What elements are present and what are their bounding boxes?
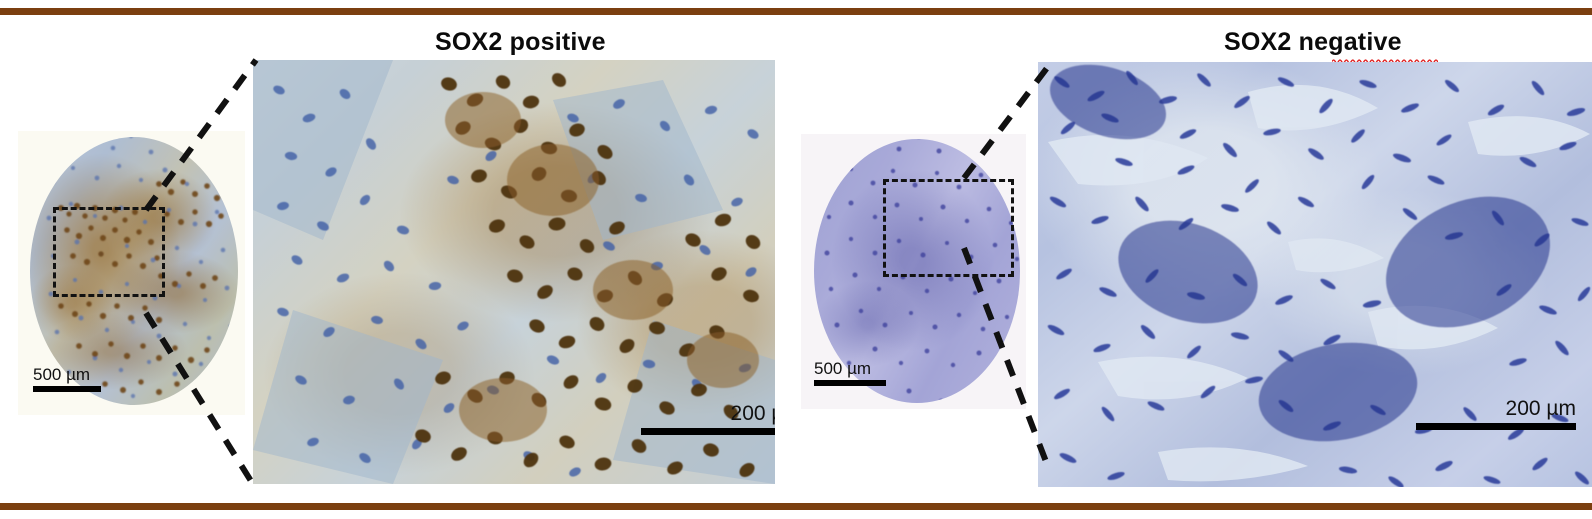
- scalebar-line: [1416, 423, 1576, 430]
- high-magnification-negative: 200 µm: [1038, 62, 1592, 487]
- scalebar-line: [814, 380, 886, 386]
- figure-root: SOX2 positive SOX2 negative: [0, 0, 1592, 519]
- scalebar-overview-negative: 500 µm: [814, 360, 886, 386]
- scalebar-magnified-negative: 200 µm: [1416, 398, 1576, 430]
- scalebar-label: 200 µm: [1416, 398, 1576, 419]
- roi-box-negative: [883, 179, 1014, 277]
- scalebar-line: [641, 428, 775, 435]
- tma-core-overview-positive: 500 µm: [18, 131, 245, 415]
- high-magnification-positive: 200 µm: [253, 60, 775, 484]
- scalebar-label: 200 µm: [641, 403, 775, 424]
- scalebar-line: [33, 386, 101, 392]
- scalebar-label: 500 µm: [33, 366, 101, 383]
- bottom-divider-rule: [0, 503, 1592, 510]
- panel-caption-sox2-positive: SOX2 positive: [435, 28, 606, 57]
- scalebar-overview-positive: 500 µm: [33, 366, 101, 392]
- top-divider-rule: [0, 8, 1592, 15]
- panel-caption-sox2-negative: SOX2 negative: [1224, 28, 1402, 57]
- roi-box-positive: [53, 207, 165, 297]
- tma-core-overview-negative: 500 µm: [801, 134, 1026, 409]
- scalebar-magnified-positive: 200 µm: [641, 403, 775, 435]
- scalebar-label: 500 µm: [814, 360, 886, 377]
